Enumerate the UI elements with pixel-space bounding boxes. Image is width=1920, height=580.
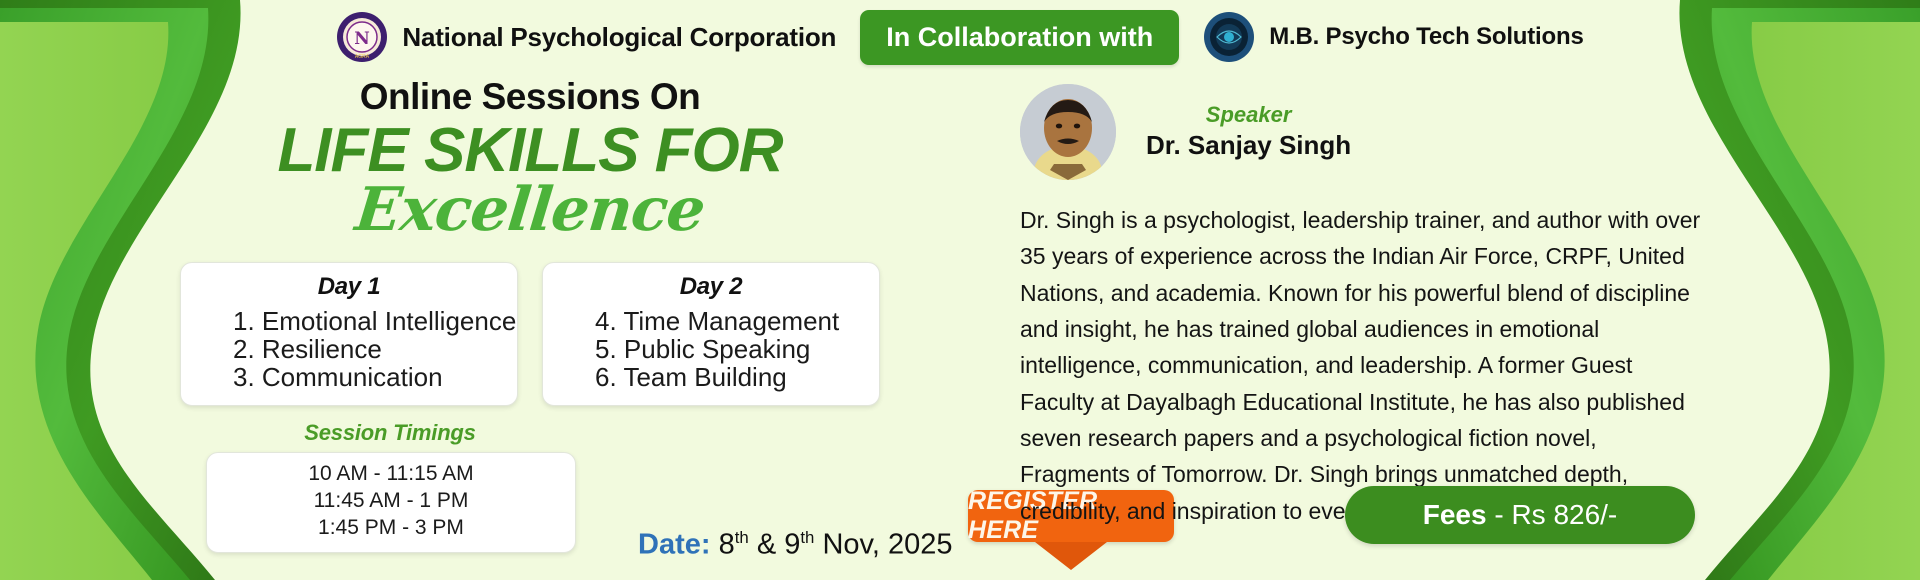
speaker-name: Dr. Sanjay Singh: [1146, 130, 1351, 161]
org-left-name: National Psychological Corporation: [402, 22, 836, 53]
list-item: 6. Team Building: [595, 363, 879, 391]
session-kicker: Online Sessions On: [180, 78, 880, 115]
session-title: LIFE SKILLS FOR: [180, 119, 880, 182]
speaker-avatar: [1020, 84, 1116, 180]
day-card-title: Day 1: [181, 273, 517, 301]
banner-header: N AGRA National Psychological Corporatio…: [0, 6, 1920, 68]
day-topic-list: 1. Emotional Intelligence 2. Resilience …: [181, 307, 517, 391]
list-item: 1. Emotional Intelligence: [233, 307, 517, 335]
fees-text: Fees - Rs 826/-: [1423, 499, 1618, 531]
event-date-day1-suffix: th: [735, 528, 749, 547]
collaboration-badge: In Collaboration with: [860, 10, 1179, 65]
webinar-banner: N AGRA National Psychological Corporatio…: [0, 0, 1920, 580]
session-timings-card: 10 AM - 11:15 AM 11:45 AM - 1 PM 1:45 PM…: [206, 452, 576, 553]
day-cards: Day 1 1. Emotional Intelligence 2. Resil…: [180, 262, 880, 406]
fees-separator: -: [1494, 499, 1503, 530]
list-item: 3. Communication: [233, 363, 517, 391]
event-date-label: Date:: [638, 529, 711, 561]
speaker-meta: Speaker Dr. Sanjay Singh: [1146, 103, 1351, 160]
left-content: Online Sessions On LIFE SKILLS FOR Excel…: [180, 78, 880, 553]
speaker-bio: Dr. Singh is a psychologist, leadership …: [1020, 202, 1710, 529]
svg-text:AGRA: AGRA: [355, 54, 370, 60]
speaker-header: Speaker Dr. Sanjay Singh: [1020, 84, 1720, 180]
event-date-day2-suffix: th: [800, 528, 814, 547]
day-card: Day 2 4. Time Management 5. Public Speak…: [542, 262, 880, 406]
org-left: N AGRA National Psychological Corporatio…: [336, 11, 836, 63]
event-date-conjunction: &: [757, 529, 776, 561]
day-card: Day 1 1. Emotional Intelligence 2. Resil…: [180, 262, 518, 406]
day-card-title: Day 2: [543, 273, 879, 301]
day-topic-list: 4. Time Management 5. Public Speaking 6.…: [543, 307, 879, 391]
event-date: Date: 8th & 9th Nov, 2025: [638, 528, 953, 562]
list-item: 4. Time Management: [595, 307, 879, 335]
fees-label: Fees: [1423, 499, 1487, 530]
list-item: 2. Resilience: [233, 335, 517, 363]
event-date-day1: 8: [719, 529, 735, 561]
session-timings-label: Session Timings: [190, 420, 590, 446]
session-timings: Session Timings 10 AM - 11:15 AM 11:45 A…: [190, 420, 590, 553]
list-item: 5. Public Speaking: [595, 335, 879, 363]
timing-slot: 10 AM - 11:15 AM: [207, 461, 575, 488]
mb-psycho-tech-logo-icon: [1203, 11, 1255, 63]
right-content: Speaker Dr. Sanjay Singh Dr. Singh is a …: [1020, 84, 1720, 529]
event-date-day2: 9: [784, 529, 800, 561]
speaker-role-label: Speaker: [1146, 103, 1351, 127]
npc-logo-icon: N AGRA: [336, 11, 388, 63]
timing-slot: 1:45 PM - 3 PM: [207, 515, 575, 542]
session-title-script: Excellence: [177, 180, 883, 240]
svg-text:N: N: [355, 29, 371, 49]
fees-amount: Rs 826/-: [1511, 499, 1617, 530]
org-right: M.B. Psycho Tech Solutions: [1203, 11, 1583, 63]
register-ribbon-tail: [1017, 542, 1125, 570]
org-right-name: M.B. Psycho Tech Solutions: [1269, 23, 1583, 51]
event-date-month-year: Nov, 2025: [822, 529, 952, 561]
fees-badge[interactable]: Fees - Rs 826/-: [1345, 486, 1695, 544]
timing-slot: 11:45 AM - 1 PM: [207, 488, 575, 515]
